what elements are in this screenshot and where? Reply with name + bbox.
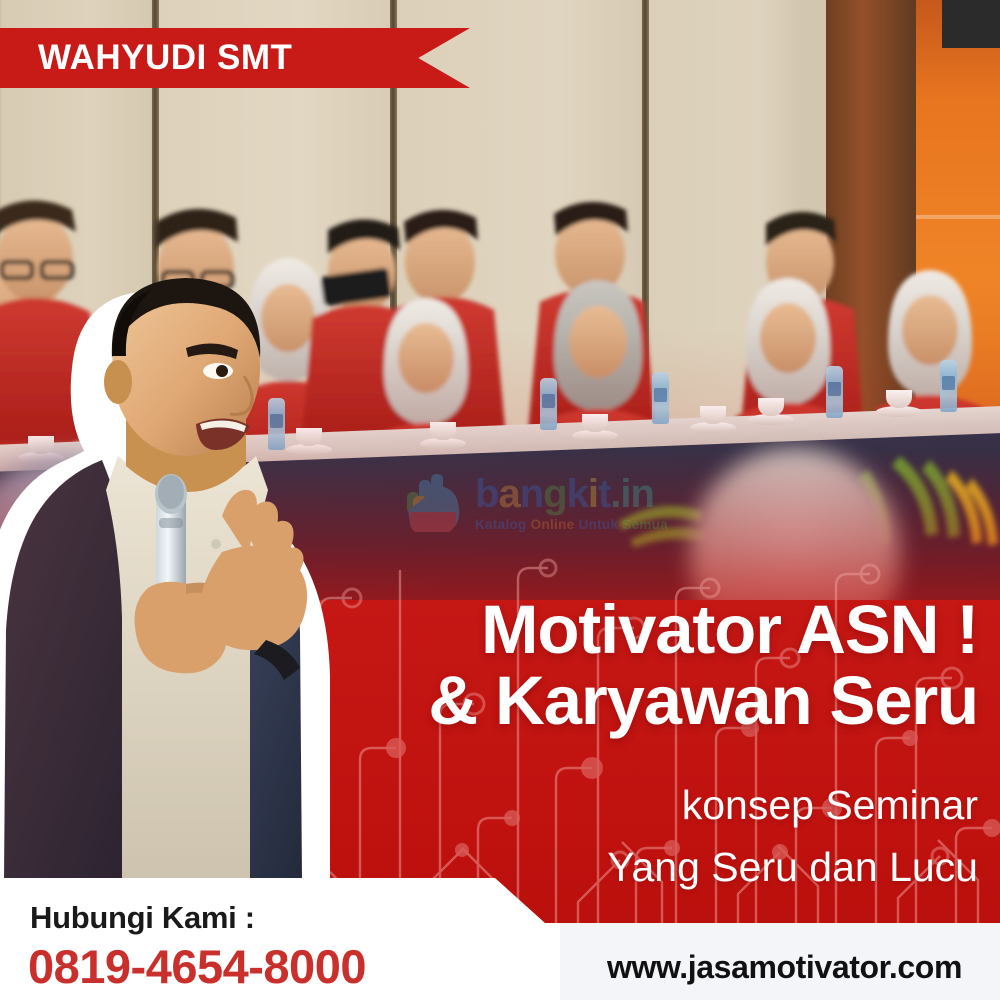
phone-number[interactable]: 0819-4654-8000: [28, 939, 366, 994]
raised-fist-icon: [405, 470, 467, 536]
promotional-banner: WAHYUDI SMT: [0, 0, 1000, 1000]
headline-block: Motivator ASN ! & Karyawan Seru: [428, 594, 978, 736]
speaker-cutout: [0, 272, 410, 892]
headline-line-2: & Karyawan Seru: [428, 665, 978, 736]
watermark-text: bangkit.in Katalog Online Untuk Semua: [475, 474, 668, 532]
website-url[interactable]: www.jasamotivator.com: [607, 949, 962, 986]
brand-name: WAHYUDI SMT: [38, 38, 292, 78]
subtitle-line-2: Yang Seru dan Lucu: [607, 838, 978, 896]
watermark: bangkit.in Katalog Online Untuk Semua: [405, 470, 668, 536]
headline-line-1: Motivator ASN !: [428, 594, 978, 665]
subtitle-line-1: konsep Seminar: [607, 776, 978, 834]
contact-label: Hubungi Kami :: [30, 900, 255, 936]
brand-ribbon: WAHYUDI SMT: [0, 28, 470, 88]
subtitle-block: konsep Seminar Yang Seru dan Lucu: [607, 772, 978, 896]
watermark-tagline: Katalog Online Untuk Semua: [475, 517, 668, 532]
watermark-name: bangkit.in: [475, 474, 668, 514]
